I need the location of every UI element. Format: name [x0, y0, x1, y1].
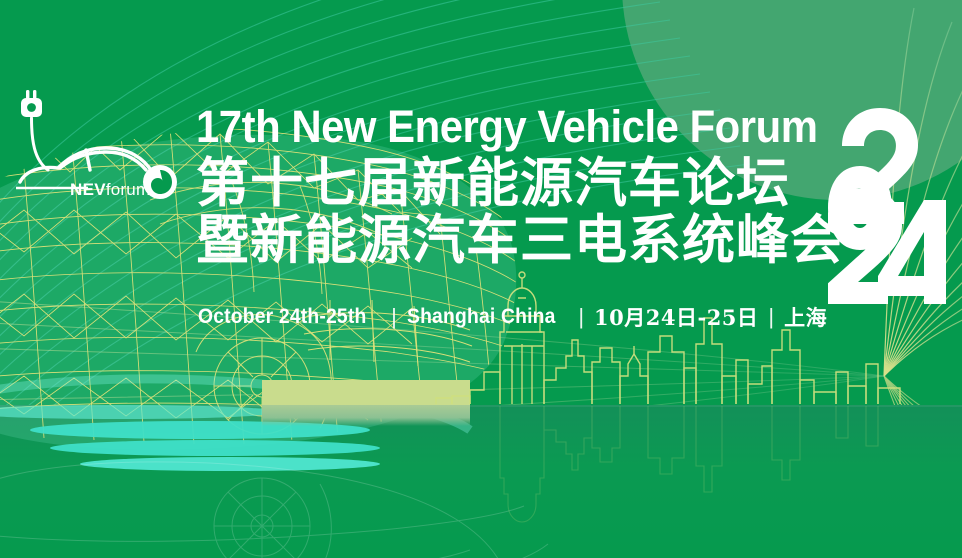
location-english: Shanghai China: [407, 305, 556, 329]
date-english: October 24th-25th: [198, 305, 366, 329]
year-2024-graphic: [828, 104, 946, 304]
date-chinese: 10月24日-25日: [594, 302, 758, 332]
location-chinese: 上海: [784, 302, 827, 332]
title-block: 17th New Energy Vehicle Forum 第十七届新能源汽车论…: [196, 102, 846, 270]
logo-text-light: forum: [106, 180, 150, 199]
meta-separator-1: |: [391, 304, 397, 330]
content-layer: NEVforum 17th New Energy Vehicle Forum 第…: [0, 0, 962, 558]
year-2024-svg: [828, 104, 946, 304]
charging-plug-icon: [21, 90, 42, 117]
event-meta-line: October 24th-25th | Shanghai China | 10月…: [198, 302, 827, 332]
logo-text-bold: NEV: [70, 180, 106, 199]
meta-separator-3: |: [768, 304, 774, 330]
nevforum-logo[interactable]: NEVforum: [8, 78, 188, 208]
meta-separator-2: |: [578, 304, 584, 330]
title-english: 17th New Energy Vehicle Forum: [196, 102, 801, 152]
charging-cable: [32, 118, 49, 170]
event-poster: NEVforum 17th New Energy Vehicle Forum 第…: [0, 0, 962, 558]
title-chinese-line2: 暨新能源汽车三电系统峰会: [196, 211, 846, 270]
title-chinese-line1: 第十七届新能源汽车论坛: [196, 154, 846, 213]
